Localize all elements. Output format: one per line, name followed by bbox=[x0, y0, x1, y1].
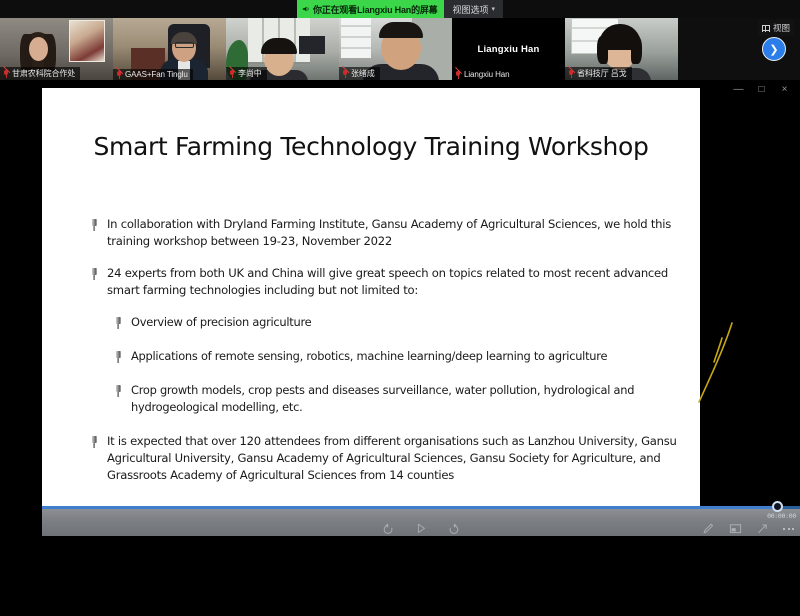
participant-filmstrip: 甘肃农科院合作处 GAAS+Fan Tinglu bbox=[0, 18, 800, 80]
slide-bullet-text: Overview of precision agriculture bbox=[131, 314, 311, 331]
microphone-muted-icon bbox=[229, 70, 235, 78]
zoom-meeting-window: 你正在观看Liangxiu Han的屏幕 视图选项 ▾ 甘肃农科院合作处 bbox=[0, 0, 800, 536]
screen-letterbox-left bbox=[0, 160, 42, 616]
slide-title: Smart Farming Technology Training Worksh… bbox=[42, 132, 700, 161]
participant-tile-5[interactable]: 省科技厅 吕戈 bbox=[565, 18, 678, 80]
participant-name: Liangxiu Han bbox=[464, 70, 510, 79]
participant-name: 甘肃农科院合作处 bbox=[12, 68, 75, 79]
participant-nameplate: 甘肃农科院合作处 bbox=[0, 67, 80, 80]
maximize-button[interactable]: □ bbox=[750, 82, 773, 98]
top-status-bar: 你正在观看Liangxiu Han的屏幕 视图选项 ▾ bbox=[0, 0, 800, 18]
bullet-marker-icon bbox=[114, 351, 122, 364]
slide-bullet-list: In collaboration with Dryland Farming In… bbox=[90, 216, 678, 499]
play-icon[interactable] bbox=[414, 522, 428, 535]
presentation-slide: Smart Farming Technology Training Worksh… bbox=[42, 88, 700, 509]
filmstrip-spacer: ❯ 视图 bbox=[678, 18, 800, 80]
microphone-muted-icon bbox=[342, 70, 348, 78]
slide-bullet-text: Crop growth models, crop pests and disea… bbox=[131, 382, 678, 416]
bullet-marker-icon bbox=[90, 436, 98, 449]
slide-bullet-text: 24 experts from both UK and China will g… bbox=[107, 265, 678, 299]
screen-sharing-banner: 你正在观看Liangxiu Han的屏幕 bbox=[297, 0, 445, 18]
player-tools bbox=[702, 522, 794, 535]
participant-name: 省科技厅 吕戈 bbox=[577, 68, 627, 79]
speaker-icon bbox=[302, 5, 310, 13]
forward-icon[interactable] bbox=[447, 522, 461, 535]
expand-icon[interactable] bbox=[756, 522, 769, 535]
rewind-icon[interactable] bbox=[381, 522, 395, 535]
slide-bullet: In collaboration with Dryland Farming In… bbox=[90, 216, 678, 250]
progress-bar-track[interactable] bbox=[42, 506, 800, 509]
media-controls bbox=[381, 522, 461, 535]
playback-time-label: 00:00:00 bbox=[767, 512, 796, 520]
view-button-label: 视图 bbox=[773, 22, 790, 34]
sharing-banner-text: 你正在观看Liangxiu Han的屏幕 bbox=[313, 3, 438, 16]
slide-bullet-text: It is expected that over 120 attendees f… bbox=[107, 433, 678, 484]
view-button[interactable]: 视图 bbox=[758, 20, 794, 36]
pen-icon[interactable] bbox=[702, 522, 715, 535]
media-player-bar: 00:00:00 bbox=[42, 508, 800, 536]
microphone-muted-icon bbox=[455, 71, 461, 79]
bullet-marker-icon bbox=[114, 385, 122, 398]
shared-screen-area: — □ × Smart Farming Technology Training … bbox=[0, 80, 800, 536]
grid-icon bbox=[762, 25, 770, 32]
participant-nameplate: 省科技厅 吕戈 bbox=[565, 67, 632, 80]
participant-tile-2[interactable]: 李尚中 bbox=[226, 18, 339, 80]
participant-name: GAAS+Fan Tinglu bbox=[125, 70, 188, 79]
participant-nameplate: 张绪成 bbox=[339, 67, 380, 80]
participant-nameplate: 李尚中 bbox=[226, 67, 267, 80]
view-options-button[interactable]: 视图选项 ▾ bbox=[444, 0, 503, 18]
minimize-button[interactable]: — bbox=[727, 82, 750, 98]
participant-tile-0[interactable]: 甘肃农科院合作处 bbox=[0, 18, 113, 80]
progress-bar-handle[interactable] bbox=[772, 501, 783, 512]
picture-in-picture-icon[interactable] bbox=[729, 522, 742, 535]
bullet-marker-icon bbox=[90, 268, 98, 281]
chevron-down-icon: ▾ bbox=[492, 6, 496, 13]
slide-sub-bullet: Overview of precision agriculture bbox=[114, 314, 678, 331]
participant-name: 张绪成 bbox=[351, 68, 375, 79]
bullet-marker-icon bbox=[90, 219, 98, 232]
participant-tile-1[interactable]: GAAS+Fan Tinglu bbox=[113, 18, 226, 80]
slide-bullet-text: In collaboration with Dryland Farming In… bbox=[107, 216, 678, 250]
progress-bar-fill bbox=[42, 506, 777, 509]
participant-tile-3[interactable]: 张绪成 bbox=[339, 18, 452, 80]
slide-bullet: It is expected that over 120 attendees f… bbox=[90, 433, 678, 484]
participant-nameplate: Liangxiu Han bbox=[452, 69, 515, 80]
participant-nameplate: GAAS+Fan Tinglu bbox=[113, 69, 193, 80]
participant-display-name: Liangxiu Han bbox=[477, 44, 539, 55]
slide-sub-bullet: Crop growth models, crop pests and disea… bbox=[114, 382, 678, 416]
next-participants-button[interactable]: ❯ bbox=[762, 37, 786, 61]
view-options-label: 视图选项 bbox=[452, 3, 488, 16]
microphone-muted-icon bbox=[3, 70, 9, 78]
more-icon[interactable] bbox=[783, 522, 794, 535]
bullet-marker-icon bbox=[114, 317, 122, 330]
participant-tile-4[interactable]: Liangxiu Han Liangxiu Han bbox=[452, 18, 565, 80]
slide-sub-bullet: Applications of remote sensing, robotics… bbox=[114, 348, 678, 365]
participant-name: 李尚中 bbox=[238, 68, 262, 79]
close-button[interactable]: × bbox=[773, 82, 796, 98]
slide-bullet-text: Applications of remote sensing, robotics… bbox=[131, 348, 607, 365]
slide-bullet: 24 experts from both UK and China will g… bbox=[90, 265, 678, 299]
microphone-muted-icon bbox=[568, 70, 574, 78]
microphone-muted-icon bbox=[116, 71, 122, 79]
